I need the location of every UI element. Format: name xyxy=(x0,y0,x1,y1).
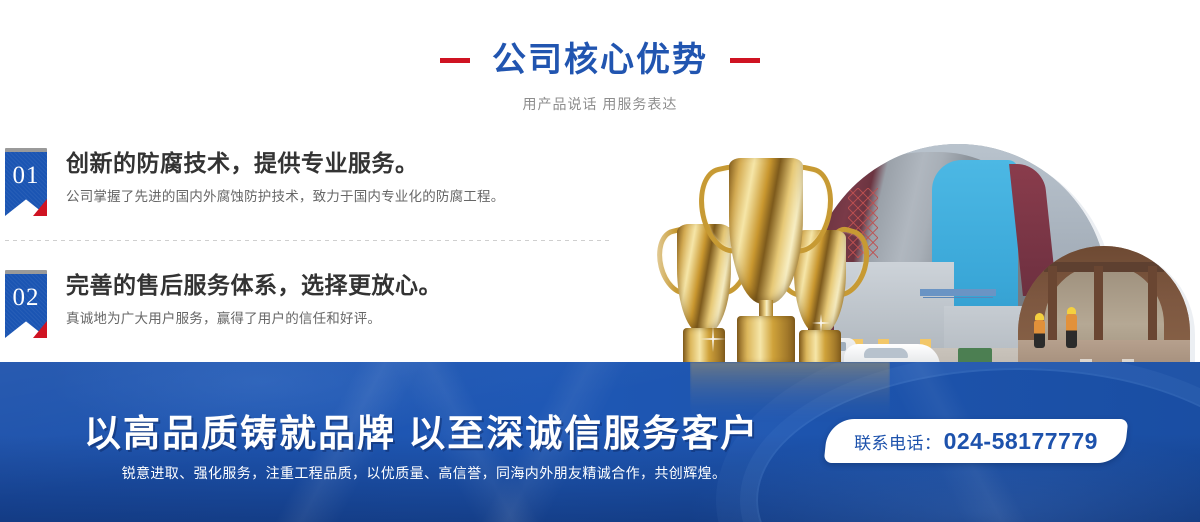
section-title-row: 公司核心优势 xyxy=(0,38,1200,82)
photo-worker xyxy=(1066,314,1077,348)
photo-worker xyxy=(1034,320,1045,348)
dash-right-icon xyxy=(730,58,760,63)
media-left-fade xyxy=(636,132,676,374)
banner-description: 锐意进取、强化服务，注重工程品质，以优质量、高信誉，同海内外朋友精诚合作，共创辉… xyxy=(84,462,764,484)
photo-arch-workers xyxy=(1018,246,1190,374)
photo-catwalk xyxy=(920,289,996,296)
advantage-title: 完善的售后服务体系，选择更放心。 xyxy=(66,266,640,302)
advantage-desc: 真诚地为广大用户服务，赢得了用户的信任和好评。 xyxy=(66,308,640,330)
advantage-title: 创新的防腐技术，提供专业服务。 xyxy=(66,144,640,180)
divider xyxy=(5,240,610,241)
photo-beam xyxy=(1044,262,1164,272)
banner-slogan: 以高品质铸就品牌 以至深诚信服务客户 xyxy=(84,410,759,458)
media-collage xyxy=(636,132,1200,374)
badge-number: 01 xyxy=(5,162,47,190)
contact-phone-badge[interactable]: 联系电话： 024-58177779 xyxy=(824,419,1129,463)
contact-phone-inner: 联系电话： 024-58177779 xyxy=(826,419,1126,463)
dash-left-icon xyxy=(440,58,470,63)
trophy-base xyxy=(737,316,795,364)
page-title: 公司核心优势 xyxy=(492,38,708,82)
sparkle-icon xyxy=(700,326,726,352)
badge-number: 02 xyxy=(5,284,47,312)
badge-ribbon-icon: 02 xyxy=(5,270,47,338)
advantage-list: 01 创新的防腐技术，提供专业服务。 公司掌握了先进的国内外腐蚀防护技术，致力于… xyxy=(0,144,640,366)
list-item: 01 创新的防腐技术，提供专业服务。 公司掌握了先进的国内外腐蚀防护技术，致力于… xyxy=(0,144,640,244)
trophy-group-icon xyxy=(656,140,876,374)
sparkle-icon xyxy=(812,314,830,332)
list-item: 02 完善的售后服务体系，选择更放心。 真诚地为广大用户服务，赢得了用户的信任和… xyxy=(0,266,640,366)
phone-number[interactable]: 024-58177779 xyxy=(944,428,1098,455)
section-subtitle: 用产品说话 用服务表达 xyxy=(0,94,1200,114)
trophy-cup xyxy=(729,158,803,304)
section-header: 公司核心优势 用产品说话 用服务表达 xyxy=(0,38,1200,114)
phone-label: 联系电话： xyxy=(854,429,942,454)
trophy-center xyxy=(714,148,818,374)
advantages-section: 公司核心优势 用产品说话 用服务表达 01 创新的防腐技术，提供专业服务。 公司… xyxy=(0,0,1200,522)
badge-ribbon-icon: 01 xyxy=(5,148,47,216)
advantage-desc: 公司掌握了先进的国内外腐蚀防护技术，致力于国内专业化的防腐工程。 xyxy=(66,186,640,208)
